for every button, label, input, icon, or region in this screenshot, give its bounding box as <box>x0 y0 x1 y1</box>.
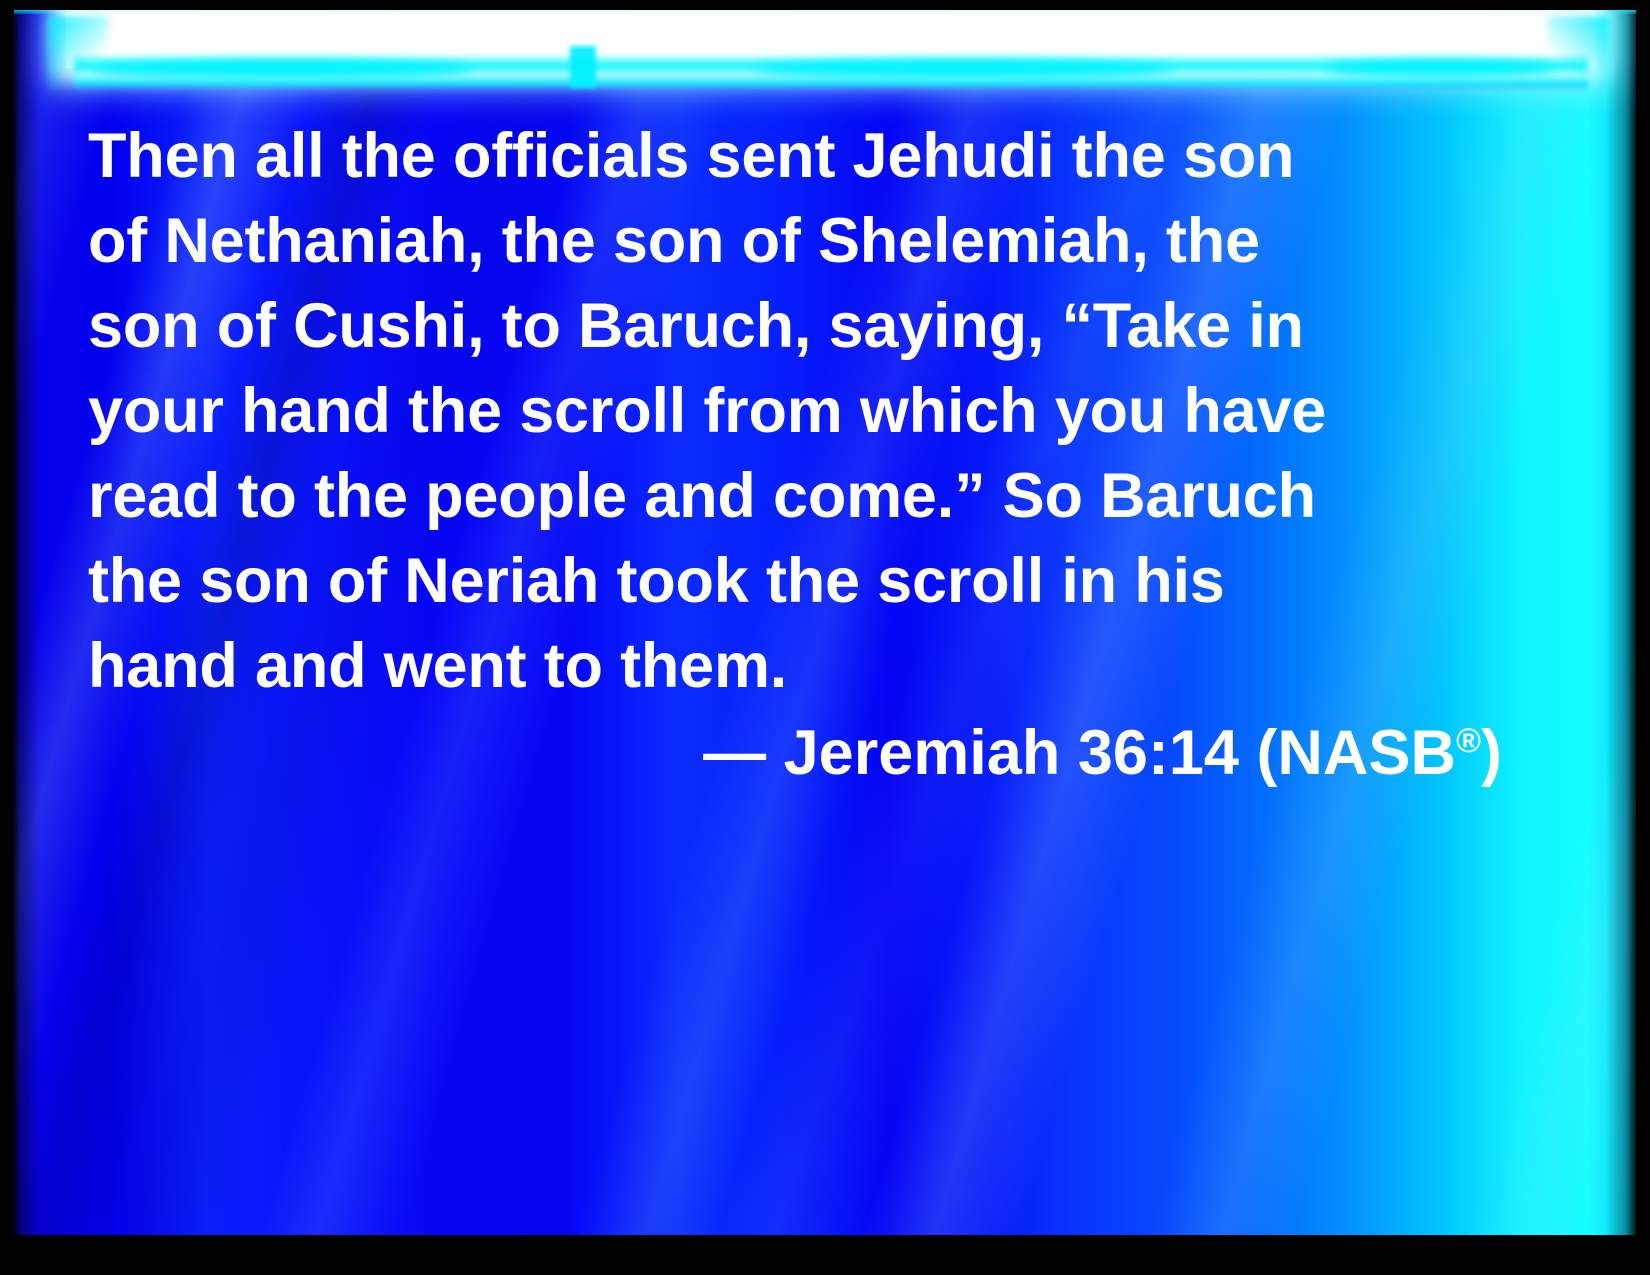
top-glow-edge-right <box>1548 16 1610 88</box>
top-glow-notch <box>570 46 596 88</box>
registered-trademark-icon: ® <box>1456 722 1481 760</box>
citation-suffix: ) <box>1481 718 1502 788</box>
verse-text-block: Then all the officials sent Jehudi the s… <box>88 114 1508 709</box>
top-glow-blotch-left <box>92 60 472 78</box>
verse-line: son of Cushi, to Baruch, saying, “Take i… <box>88 284 1508 369</box>
citation-prefix: — Jeremiah 36:14 (NASB <box>703 718 1456 788</box>
verse-line: your hand the scroll from which you have <box>88 369 1508 454</box>
verse-line: of Nethaniah, the son of Shelemiah, the <box>88 199 1508 284</box>
slide-canvas: Then all the officials sent Jehudi the s… <box>14 10 1636 1235</box>
top-glow-blotch-right <box>1324 60 1554 76</box>
top-glow-band <box>14 10 1636 96</box>
top-glow-blotch-center <box>754 60 1174 78</box>
verse-line: Then all the officials sent Jehudi the s… <box>88 114 1508 199</box>
top-glow-white-core <box>66 12 1596 68</box>
top-glow-cyan-underline <box>74 54 1588 88</box>
verse-line: read to the people and come.” So Baruch <box>88 454 1508 539</box>
slide-frame: Then all the officials sent Jehudi the s… <box>0 0 1650 1275</box>
verse-line: hand and went to them. <box>88 624 1508 709</box>
verse-citation-row: — Jeremiah 36:14 (NASB®) <box>88 711 1508 796</box>
verse-line: the son of Neriah took the scroll in his <box>88 539 1508 624</box>
verse-citation: — Jeremiah 36:14 (NASB®) <box>703 711 1508 796</box>
top-glow-edge-left <box>48 16 108 88</box>
top-glow-hairline <box>14 10 1636 14</box>
